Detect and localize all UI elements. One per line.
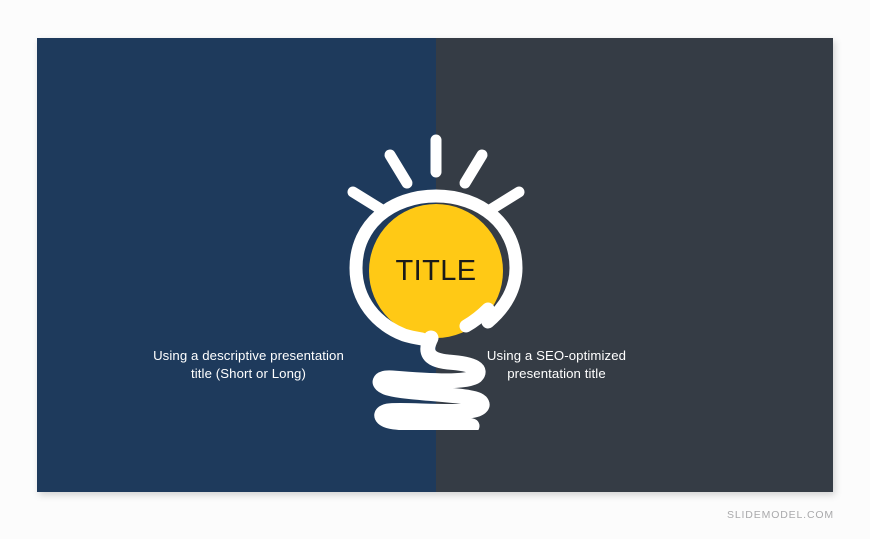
right-panel-caption: Using a SEO-optimized presentation title [449, 347, 664, 383]
ray-upper-right [465, 155, 482, 183]
watermark-label: SLIDEMODEL.COM [727, 509, 834, 521]
ray-lower-right [490, 192, 519, 210]
bulb-title-label: TITLE [336, 257, 536, 286]
slide-canvas: TITLE Using a descriptive presentation t… [37, 38, 833, 492]
lightbulb-illustration: TITLE [336, 130, 536, 430]
ray-upper-left [390, 155, 407, 183]
ray-lower-left [353, 192, 382, 210]
left-panel-caption: Using a descriptive presentation title (… [141, 347, 356, 383]
